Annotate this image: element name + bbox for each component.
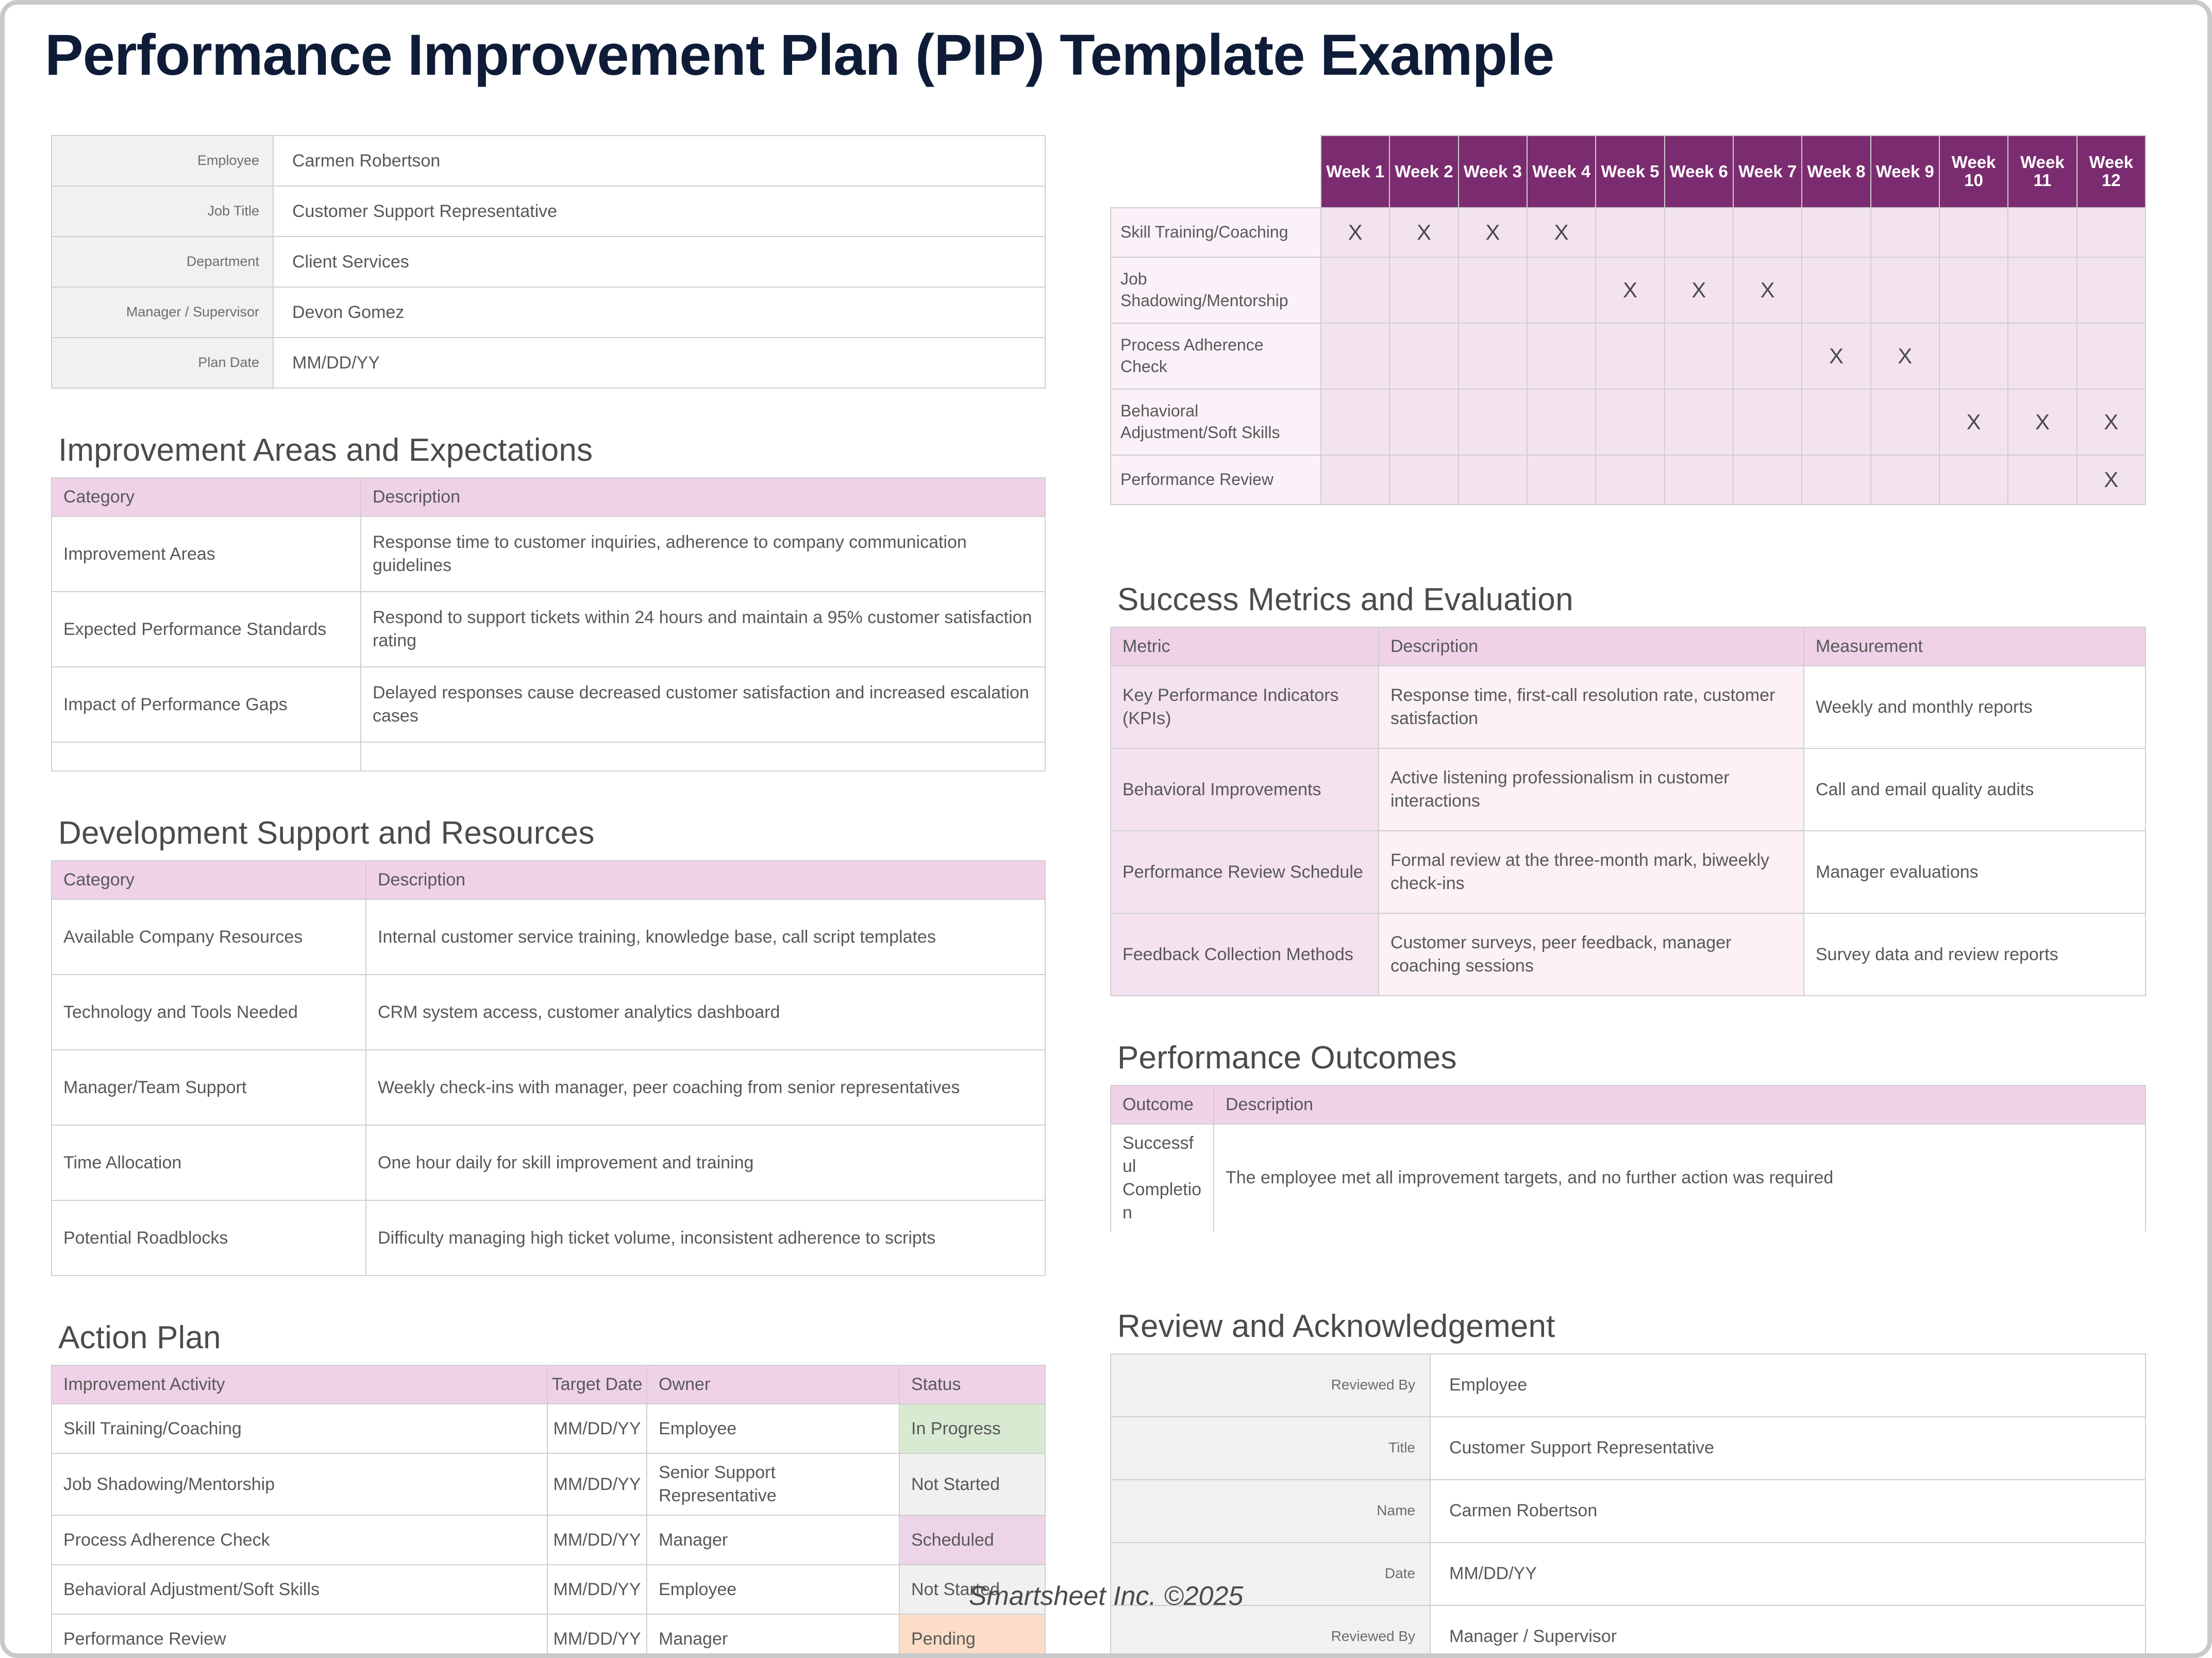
action-col-target-date: Target Date: [547, 1365, 647, 1404]
action-plan-table: Improvement Activity Target Date Owner S…: [51, 1365, 1046, 1658]
gantt-cell-w1: [1321, 323, 1389, 389]
outcome-description: The employee met all improvement targets…: [1214, 1124, 2146, 1232]
gantt-week-header-12: Week 12: [2077, 136, 2146, 208]
gantt-week-header-6: Week 6: [1665, 136, 1733, 208]
improvement-description: Respond to support tickets within 24 hou…: [361, 592, 1045, 667]
metric-name: Behavioral Improvements: [1111, 748, 1379, 831]
gantt-cell-w4: [1527, 389, 1596, 455]
gantt-cell-w2: [1389, 257, 1458, 323]
review-value: Manager / Supervisor: [1430, 1605, 2146, 1658]
metric-measurement: Manager evaluations: [1804, 831, 2146, 913]
review-label: Title: [1111, 1417, 1430, 1480]
development-description: Weekly check-ins with manager, peer coac…: [366, 1050, 1045, 1125]
gantt-week-header-4: Week 4: [1527, 136, 1596, 208]
info-value: MM/DD/YY: [273, 338, 1045, 388]
outcomes-col-description: Description: [1214, 1085, 2146, 1124]
metrics-col-description: Description: [1379, 627, 1804, 666]
review-value: Carmen Robertson: [1430, 1480, 2146, 1543]
metric-measurement: Survey data and review reports: [1804, 913, 2146, 996]
improvement-category: Expected Performance Standards: [52, 592, 361, 667]
gantt-cell-w9: [1871, 208, 1939, 257]
table-row: Performance Review ScheduleFormal review…: [1111, 831, 2146, 913]
info-label: Plan Date: [52, 338, 273, 388]
gantt-cell-w2: [1389, 389, 1458, 455]
pip-template-page: Performance Improvement Plan (PIP) Templ…: [0, 0, 2212, 1658]
timeline-gantt-table: Week 1Week 2Week 3Week 4Week 5Week 6Week…: [1110, 135, 2146, 505]
gantt-row-label: Process Adherence Check: [1111, 323, 1321, 389]
gantt-week-header-5: Week 5: [1596, 136, 1664, 208]
development-col-category: Category: [52, 861, 366, 899]
metric-measurement: Weekly and monthly reports: [1804, 666, 2146, 748]
action-activity: Skill Training/Coaching: [52, 1404, 547, 1453]
gantt-week-header-10: Week 10: [1939, 136, 2008, 208]
footer-copyright: Smartsheet Inc. ©2025: [5, 1581, 2207, 1612]
table-row: EmployeeCarmen Robertson: [52, 136, 1045, 186]
table-row: Key Performance Indicators (KPIs)Respons…: [1111, 666, 2146, 748]
employee-info-table: EmployeeCarmen RobertsonJob TitleCustome…: [51, 135, 1046, 389]
info-value: Devon Gomez: [273, 287, 1045, 338]
action-owner: Manager: [647, 1515, 899, 1565]
gantt-cell-w7: [1733, 208, 1802, 257]
gantt-cell-w3: [1459, 257, 1527, 323]
gantt-cell-w1: X: [1321, 208, 1389, 257]
gantt-cell-w8: [1802, 389, 1870, 455]
gantt-cell-w11: [2008, 257, 2076, 323]
metric-name: Key Performance Indicators (KPIs): [1111, 666, 1379, 748]
gantt-cell-w11: [2008, 455, 2076, 505]
gantt-cell-w3: [1459, 323, 1527, 389]
review-label: Reviewed By: [1111, 1605, 1430, 1658]
action-activity: Performance Review: [52, 1614, 547, 1658]
gantt-week-header-11: Week 11: [2008, 136, 2076, 208]
development-category: Available Company Resources: [52, 899, 366, 975]
table-row: Feedback Collection MethodsCustomer surv…: [1111, 913, 2146, 996]
table-row: Reviewed ByManager / Supervisor: [1111, 1605, 2146, 1658]
action-col-owner: Owner: [647, 1365, 899, 1404]
table-row: Successful CompletionThe employee met al…: [1111, 1124, 2146, 1232]
action-target-date: MM/DD/YY: [547, 1404, 647, 1453]
improvement-description: Response time to customer inquiries, adh…: [361, 516, 1045, 592]
development-category: Potential Roadblocks: [52, 1200, 366, 1276]
table-row: Available Company ResourcesInternal cust…: [52, 899, 1045, 975]
action-target-date: MM/DD/YY: [547, 1515, 647, 1565]
table-row: Impact of Performance GapsDelayed respon…: [52, 667, 1045, 742]
gantt-cell-w5: [1596, 389, 1664, 455]
info-value: Client Services: [273, 237, 1045, 287]
improvement-description: Delayed responses cause decreased custom…: [361, 667, 1045, 742]
gantt-cell-w4: [1527, 455, 1596, 505]
info-label: Employee: [52, 136, 273, 186]
action-col-status: Status: [899, 1365, 1045, 1404]
action-owner: Manager: [647, 1614, 899, 1658]
development-category: Manager/Team Support: [52, 1050, 366, 1125]
action-target-date: MM/DD/YY: [547, 1614, 647, 1658]
gantt-cell-w1: [1321, 389, 1389, 455]
status-badge: Scheduled: [899, 1515, 1045, 1565]
outcome-name: Successful Completion: [1111, 1124, 1214, 1232]
table-row: Behavioral ImprovementsActive listening …: [1111, 748, 2146, 831]
performance-outcomes-table: Outcome Description Successful Completio…: [1110, 1085, 2146, 1231]
table-row: DepartmentClient Services: [52, 237, 1045, 287]
improvement-col-category: Category: [52, 478, 361, 516]
left-column: EmployeeCarmen RobertsonJob TitleCustome…: [51, 135, 1046, 1658]
gantt-cell-w8: [1802, 208, 1870, 257]
gantt-cell-w6: [1665, 389, 1733, 455]
gantt-cell-w5: [1596, 455, 1664, 505]
improvement-areas-table: Category Description Improvement AreasRe…: [51, 477, 1046, 772]
gantt-row: Behavioral Adjustment/Soft SkillsXXX: [1111, 389, 2146, 455]
gantt-cell-w5: [1596, 323, 1664, 389]
metrics-col-metric: Metric: [1111, 627, 1379, 666]
gantt-cell-w12: [2077, 208, 2146, 257]
gantt-week-header-9: Week 9: [1871, 136, 1939, 208]
page-title: Performance Improvement Plan (PIP) Templ…: [45, 24, 1554, 87]
gantt-cell-w7: [1733, 389, 1802, 455]
outcomes-col-outcome: Outcome: [1111, 1085, 1214, 1124]
table-row: Manager / SupervisorDevon Gomez: [52, 287, 1045, 338]
improvement-areas-heading: Improvement Areas and Expectations: [58, 433, 1046, 468]
gantt-cell-w12: [2077, 323, 2146, 389]
info-label: Job Title: [52, 186, 273, 237]
gantt-cell-w11: [2008, 208, 2076, 257]
gantt-cell-w10: [1939, 323, 2008, 389]
gantt-cell-w12: X: [2077, 389, 2146, 455]
table-row: TitleCustomer Support Representative: [1111, 1417, 2146, 1480]
action-plan-heading: Action Plan: [58, 1320, 1046, 1355]
development-description: Internal customer service training, know…: [366, 899, 1045, 975]
info-value: Carmen Robertson: [273, 136, 1045, 186]
development-description: CRM system access, customer analytics da…: [366, 975, 1045, 1050]
gantt-cell-w7: [1733, 323, 1802, 389]
table-row: NameCarmen Robertson: [1111, 1480, 2146, 1543]
gantt-cell-w6: [1665, 208, 1733, 257]
gantt-cell-w3: [1459, 389, 1527, 455]
development-category: Technology and Tools Needed: [52, 975, 366, 1050]
gantt-week-header-8: Week 8: [1802, 136, 1870, 208]
right-column: Week 1Week 2Week 3Week 4Week 5Week 6Week…: [1110, 135, 2146, 1658]
gantt-cell-w6: [1665, 323, 1733, 389]
gantt-cell-w7: X: [1733, 257, 1802, 323]
gantt-row: Skill Training/CoachingXXXX: [1111, 208, 2146, 257]
table-row: Reviewed ByEmployee: [1111, 1354, 2146, 1417]
gantt-cell-w9: [1871, 455, 1939, 505]
table-row: Job Shadowing/MentorshipMM/DD/YYSenior S…: [52, 1453, 1045, 1515]
metric-name: Feedback Collection Methods: [1111, 913, 1379, 996]
gantt-row-label: Job Shadowing/Mentorship: [1111, 257, 1321, 323]
metric-description: Customer surveys, peer feedback, manager…: [1379, 913, 1804, 996]
development-col-description: Description: [366, 861, 1045, 899]
table-row: Manager/Team SupportWeekly check-ins wit…: [52, 1050, 1045, 1125]
review-label: Name: [1111, 1480, 1430, 1543]
gantt-cell-w1: [1321, 257, 1389, 323]
gantt-cell-w2: X: [1389, 208, 1458, 257]
table-row: Skill Training/CoachingMM/DD/YYEmployeeI…: [52, 1404, 1045, 1453]
metric-description: Active listening professionalism in cust…: [1379, 748, 1804, 831]
table-row: Plan DateMM/DD/YY: [52, 338, 1045, 388]
gantt-row-label: Performance Review: [1111, 455, 1321, 505]
table-row: Job TitleCustomer Support Representative: [52, 186, 1045, 237]
gantt-cell-w6: X: [1665, 257, 1733, 323]
gantt-cell-w11: X: [2008, 389, 2076, 455]
gantt-cell-w8: [1802, 455, 1870, 505]
gantt-week-header-7: Week 7: [1733, 136, 1802, 208]
gantt-row: Process Adherence CheckXX: [1111, 323, 2146, 389]
table-row: Improvement AreasResponse time to custom…: [52, 516, 1045, 592]
truncated-cell: [52, 742, 361, 771]
gantt-cell-w4: [1527, 257, 1596, 323]
gantt-corner: [1111, 136, 1321, 208]
review-label: Reviewed By: [1111, 1354, 1430, 1417]
gantt-cell-w9: X: [1871, 323, 1939, 389]
truncated-cell: [361, 742, 1045, 771]
info-label: Department: [52, 237, 273, 287]
gantt-cell-w9: [1871, 257, 1939, 323]
metric-description: Response time, first-call resolution rat…: [1379, 666, 1804, 748]
review-value: Employee: [1430, 1354, 2146, 1417]
gantt-cell-w4: [1527, 323, 1596, 389]
action-col-activity: Improvement Activity: [52, 1365, 547, 1404]
gantt-cell-w5: X: [1596, 257, 1664, 323]
action-activity: Job Shadowing/Mentorship: [52, 1453, 547, 1515]
gantt-cell-w10: [1939, 455, 2008, 505]
gantt-cell-w2: [1389, 455, 1458, 505]
gantt-cell-w2: [1389, 323, 1458, 389]
gantt-row-label: Skill Training/Coaching: [1111, 208, 1321, 257]
action-activity: Process Adherence Check: [52, 1515, 547, 1565]
review-acknowledgement-heading: Review and Acknowledgement: [1117, 1309, 2146, 1344]
action-target-date: MM/DD/YY: [547, 1453, 647, 1515]
gantt-week-header-3: Week 3: [1459, 136, 1527, 208]
gantt-cell-w3: X: [1459, 208, 1527, 257]
gantt-cell-w9: [1871, 389, 1939, 455]
gantt-row: Performance ReviewX: [1111, 455, 2146, 505]
gantt-cell-w10: X: [1939, 389, 2008, 455]
gantt-cell-w5: [1596, 208, 1664, 257]
review-acknowledgement-table: Reviewed ByEmployeeTitleCustomer Support…: [1110, 1353, 2146, 1658]
status-badge: Not Started: [899, 1453, 1045, 1515]
gantt-cell-w7: [1733, 455, 1802, 505]
gantt-cell-w1: [1321, 455, 1389, 505]
gantt-cell-w8: [1802, 257, 1870, 323]
gantt-cell-w11: [2008, 323, 2076, 389]
gantt-cell-w3: [1459, 455, 1527, 505]
info-value: Customer Support Representative: [273, 186, 1045, 237]
success-metrics-table: Metric Description Measurement Key Perfo…: [1110, 627, 2146, 996]
gantt-week-header-1: Week 1: [1321, 136, 1389, 208]
table-row-truncated: [52, 742, 1045, 771]
gantt-row-label: Behavioral Adjustment/Soft Skills: [1111, 389, 1321, 455]
development-category: Time Allocation: [52, 1125, 366, 1200]
gantt-cell-w4: X: [1527, 208, 1596, 257]
gantt-cell-w10: [1939, 257, 2008, 323]
review-value: Customer Support Representative: [1430, 1417, 2146, 1480]
gantt-cell-w8: X: [1802, 323, 1870, 389]
development-support-table: Category Description Available Company R…: [51, 860, 1046, 1276]
performance-outcomes-heading: Performance Outcomes: [1117, 1041, 2146, 1076]
metrics-col-measurement: Measurement: [1804, 627, 2146, 666]
table-row: Potential RoadblocksDifficulty managing …: [52, 1200, 1045, 1276]
table-row: Time AllocationOne hour daily for skill …: [52, 1125, 1045, 1200]
table-row: Expected Performance StandardsRespond to…: [52, 592, 1045, 667]
gantt-cell-w12: [2077, 257, 2146, 323]
development-support-heading: Development Support and Resources: [58, 816, 1046, 851]
improvement-col-description: Description: [361, 478, 1045, 516]
action-owner: Senior Support Representative: [647, 1453, 899, 1515]
improvement-category: Impact of Performance Gaps: [52, 667, 361, 742]
gantt-cell-w6: [1665, 455, 1733, 505]
action-owner: Employee: [647, 1404, 899, 1453]
metric-description: Formal review at the three-month mark, b…: [1379, 831, 1804, 913]
table-row: Technology and Tools NeededCRM system ac…: [52, 975, 1045, 1050]
metric-name: Performance Review Schedule: [1111, 831, 1379, 913]
gantt-week-header-2: Week 2: [1389, 136, 1458, 208]
success-metrics-heading: Success Metrics and Evaluation: [1117, 582, 2146, 617]
development-description: One hour daily for skill improvement and…: [366, 1125, 1045, 1200]
status-badge: Pending: [899, 1614, 1045, 1658]
gantt-cell-w10: [1939, 208, 2008, 257]
table-row: Process Adherence CheckMM/DD/YYManagerSc…: [52, 1515, 1045, 1565]
metric-measurement: Call and email quality audits: [1804, 748, 2146, 831]
improvement-category: Improvement Areas: [52, 516, 361, 592]
gantt-cell-w12: X: [2077, 455, 2146, 505]
table-row: Performance ReviewMM/DD/YYManagerPending: [52, 1614, 1045, 1658]
info-label: Manager / Supervisor: [52, 287, 273, 338]
status-badge: In Progress: [899, 1404, 1045, 1453]
gantt-row: Job Shadowing/MentorshipXXX: [1111, 257, 2146, 323]
development-description: Difficulty managing high ticket volume, …: [366, 1200, 1045, 1276]
